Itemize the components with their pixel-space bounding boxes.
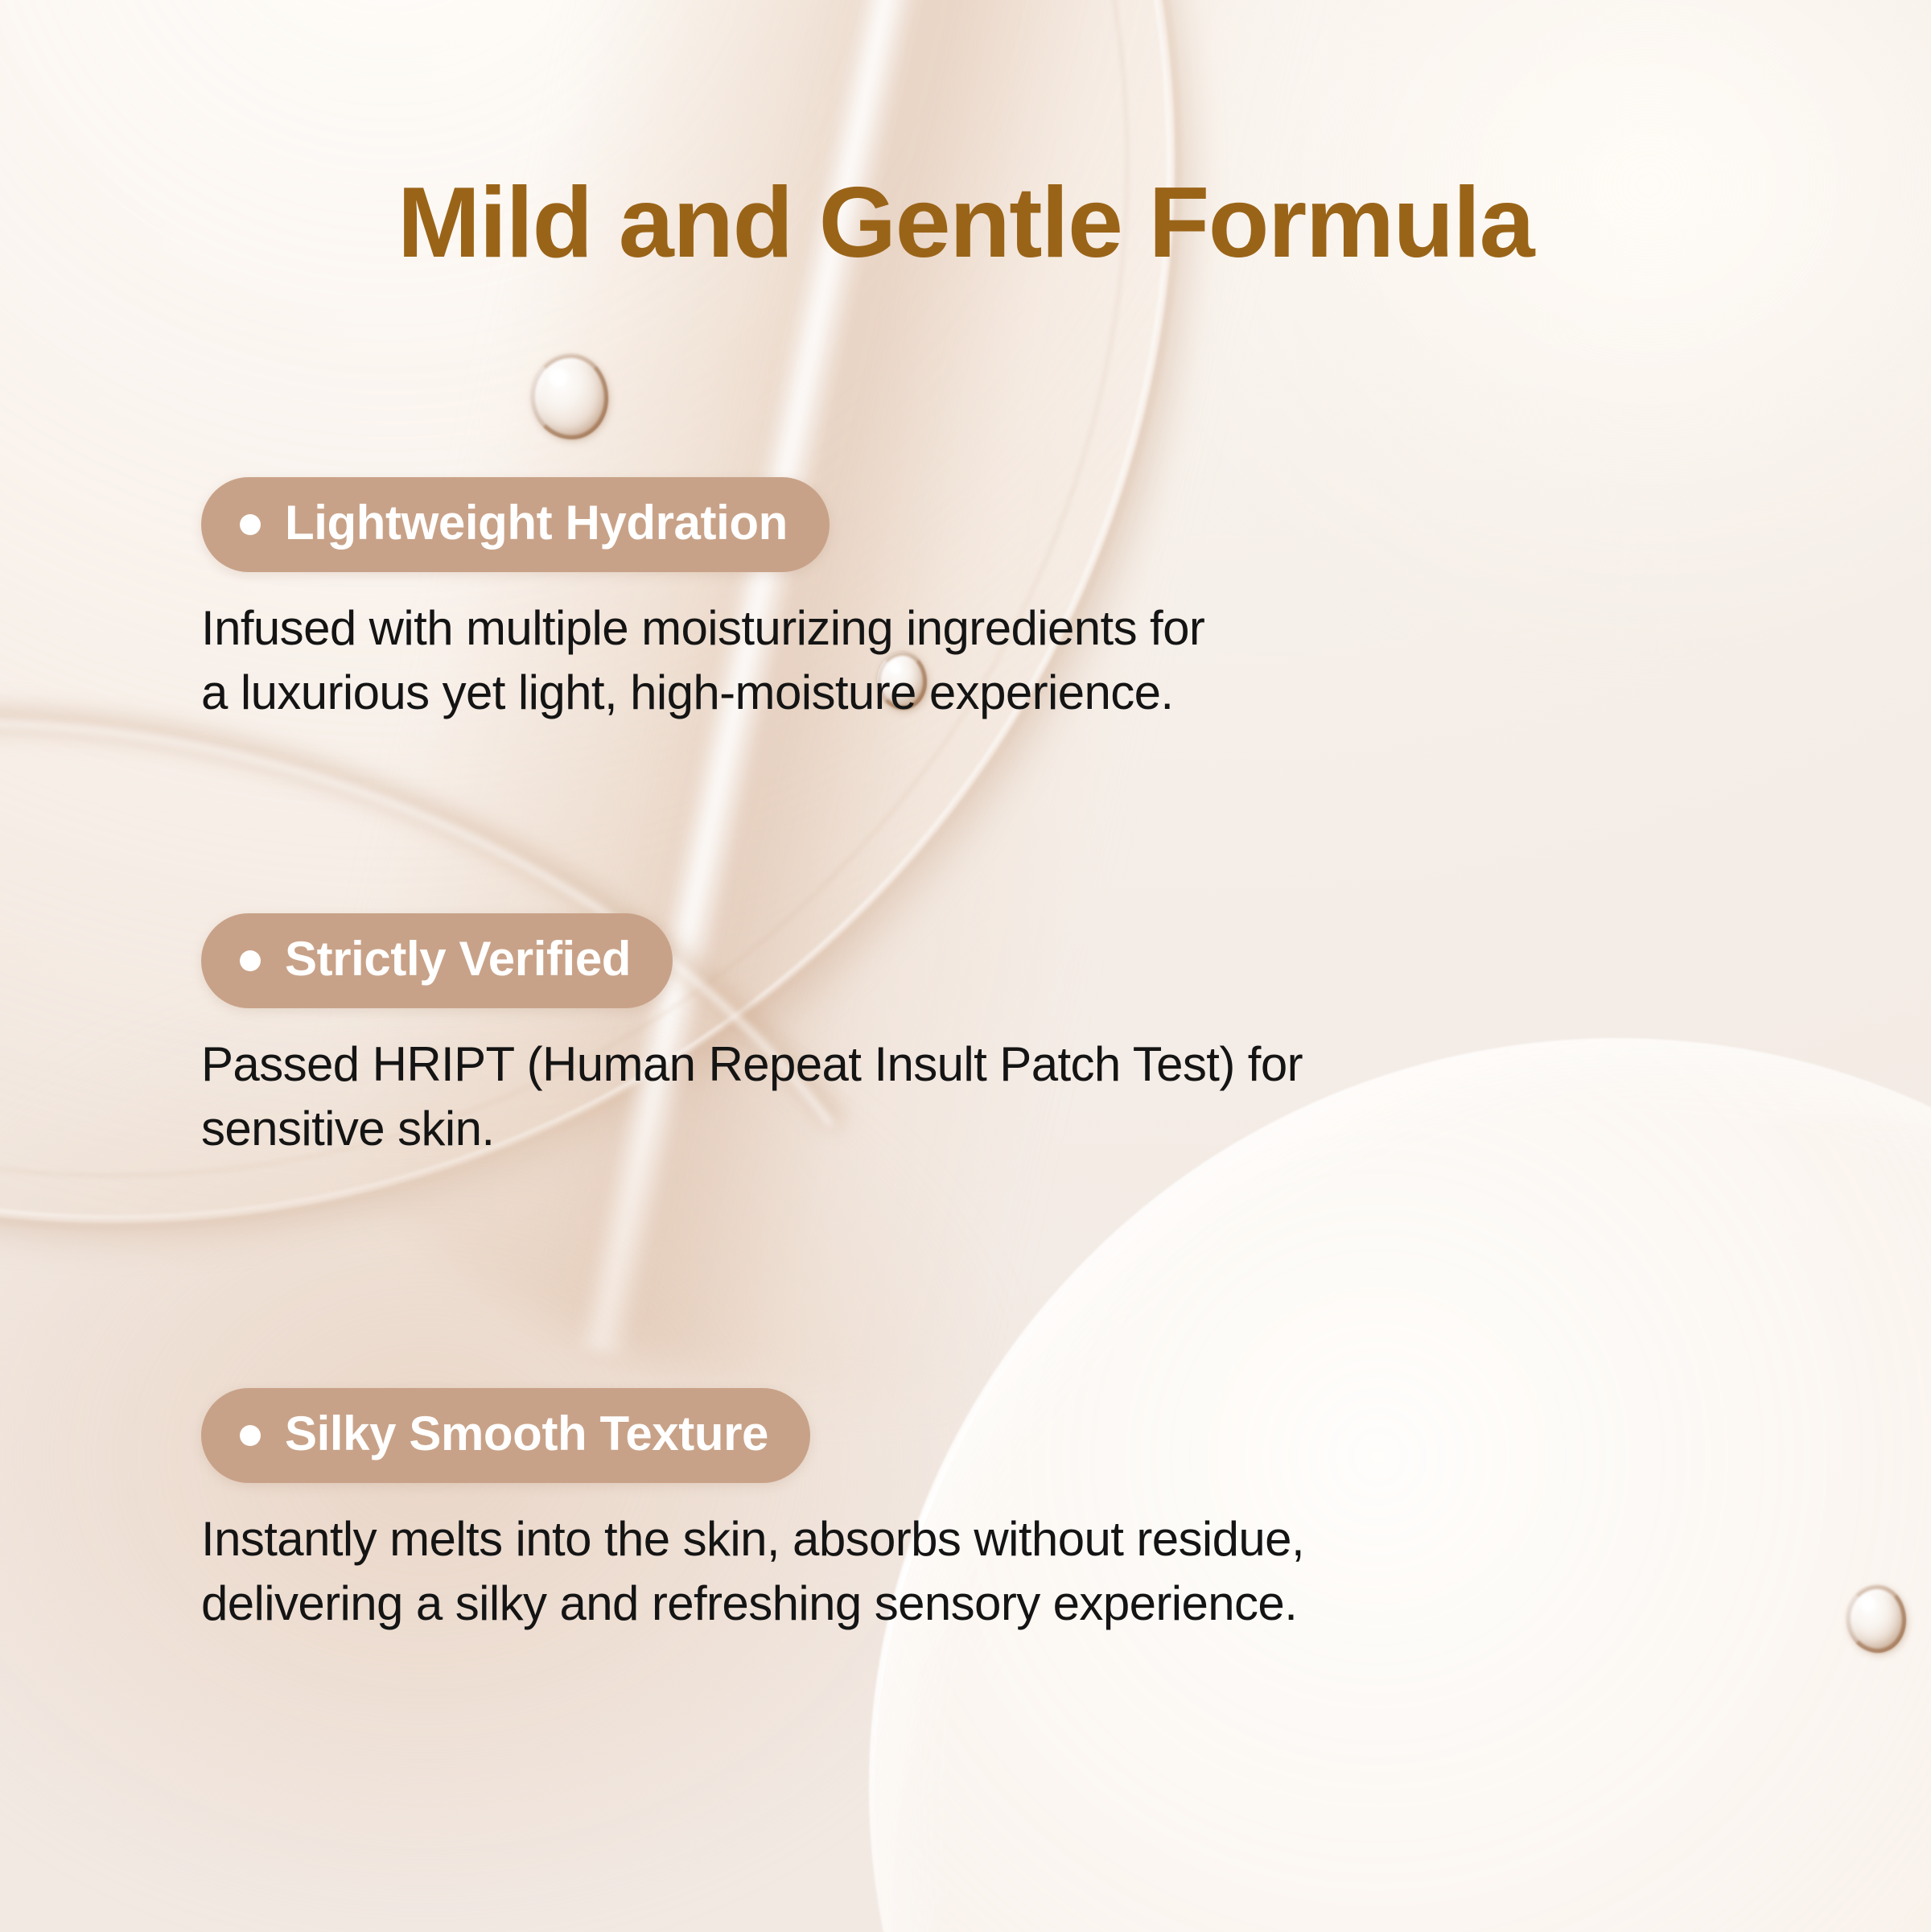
feature-label: Strictly Verified [285, 935, 631, 983]
feature-block-silky-smooth-texture: Silky Smooth Texture Instantly melts int… [201, 1388, 1304, 1636]
feature-block-strictly-verified: Strictly Verified Passed HRIPT (Human Re… [201, 913, 1303, 1161]
feature-block-lightweight-hydration: Lightweight Hydration Infused with multi… [201, 477, 1204, 725]
feature-description: Infused with multiple moisturizing ingre… [201, 596, 1204, 725]
bullet-dot-icon [240, 1425, 261, 1446]
poster-canvas: Mild and Gentle Formula Lightweight Hydr… [0, 0, 1931, 1932]
feature-label: Silky Smooth Texture [285, 1410, 768, 1458]
feature-pill-strictly-verified[interactable]: Strictly Verified [201, 913, 673, 1008]
bullet-dot-icon [240, 950, 261, 971]
bullet-dot-icon [240, 514, 261, 535]
feature-description: Passed HRIPT (Human Repeat Insult Patch … [201, 1032, 1303, 1161]
feature-pill-lightweight-hydration[interactable]: Lightweight Hydration [201, 477, 830, 572]
feature-label: Lightweight Hydration [285, 499, 788, 547]
feature-description: Instantly melts into the skin, absorbs w… [201, 1507, 1304, 1636]
feature-pill-silky-smooth-texture[interactable]: Silky Smooth Texture [201, 1388, 810, 1483]
content-container: Mild and Gentle Formula Lightweight Hydr… [0, 0, 1931, 1932]
page-title: Mild and Gentle Formula [0, 171, 1931, 275]
